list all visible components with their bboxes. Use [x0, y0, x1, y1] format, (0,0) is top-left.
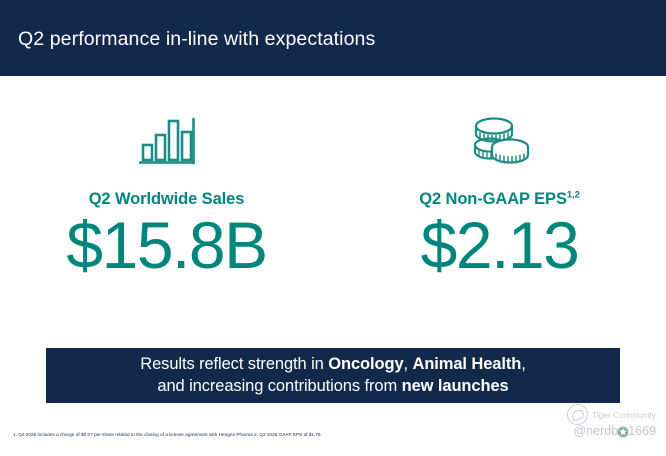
watermark-handle-suffix: 1669	[628, 424, 656, 438]
callout-box: Results reflect strength in Oncology, An…	[46, 348, 620, 403]
callout-emphasis-animal-health: Animal Health	[413, 355, 522, 373]
metrics-row: Q2 Worldwide Sales $15.8B	[0, 110, 666, 320]
verified-badge-icon	[617, 426, 629, 438]
footnote: 1. Q2 2025 includes a charge of $0.07 pe…	[13, 432, 533, 438]
tiger-logo-icon	[567, 404, 588, 425]
callout-line-2: and increasing contributions from new la…	[157, 376, 508, 398]
callout-emphasis-new-launches: new launches	[402, 377, 509, 395]
watermark-handle: @nerdb 1669	[574, 424, 656, 438]
metric-label-non-gaap-eps: Q2 Non-GAAP EPS1,2	[419, 190, 580, 209]
callout-line-1: Results reflect strength in Oncology, An…	[140, 354, 525, 376]
bar-chart-icon	[139, 110, 195, 172]
watermark-community-label: Tiger Community	[592, 410, 656, 420]
callout-line1-suffix: ,	[521, 355, 525, 373]
callout-emphasis-oncology: Oncology	[328, 355, 403, 373]
metric-label-text: Q2 Non-GAAP EPS	[419, 190, 567, 208]
metric-value-non-gaap-eps: $2.13	[421, 211, 579, 280]
page-title: Q2 performance in-line with expectations	[18, 28, 375, 51]
callout-line1-mid: ,	[404, 355, 413, 373]
metric-non-gaap-eps: Q2 Non-GAAP EPS1,2 $2.13	[333, 110, 666, 320]
watermark-handle-prefix: @nerdb	[574, 424, 619, 438]
watermark-community: Tiger Community	[567, 404, 656, 425]
coin-stack-icon	[468, 110, 532, 172]
metric-label-worldwide-sales: Q2 Worldwide Sales	[89, 190, 245, 209]
slide-canvas: Q2 performance in-line with expectations…	[0, 0, 666, 456]
metric-value-worldwide-sales: $15.8B	[66, 211, 266, 280]
metric-label-text: Q2 Worldwide Sales	[89, 190, 245, 208]
metric-worldwide-sales: Q2 Worldwide Sales $15.8B	[0, 110, 333, 320]
callout-line2-prefix: and increasing contributions from	[157, 377, 401, 395]
metric-label-superscript: 1,2	[567, 190, 580, 201]
callout-line1-prefix: Results reflect strength in	[140, 355, 328, 373]
header-band: Q2 performance in-line with expectations	[0, 0, 666, 76]
watermark: Tiger Community @nerdb 1669	[530, 400, 660, 448]
